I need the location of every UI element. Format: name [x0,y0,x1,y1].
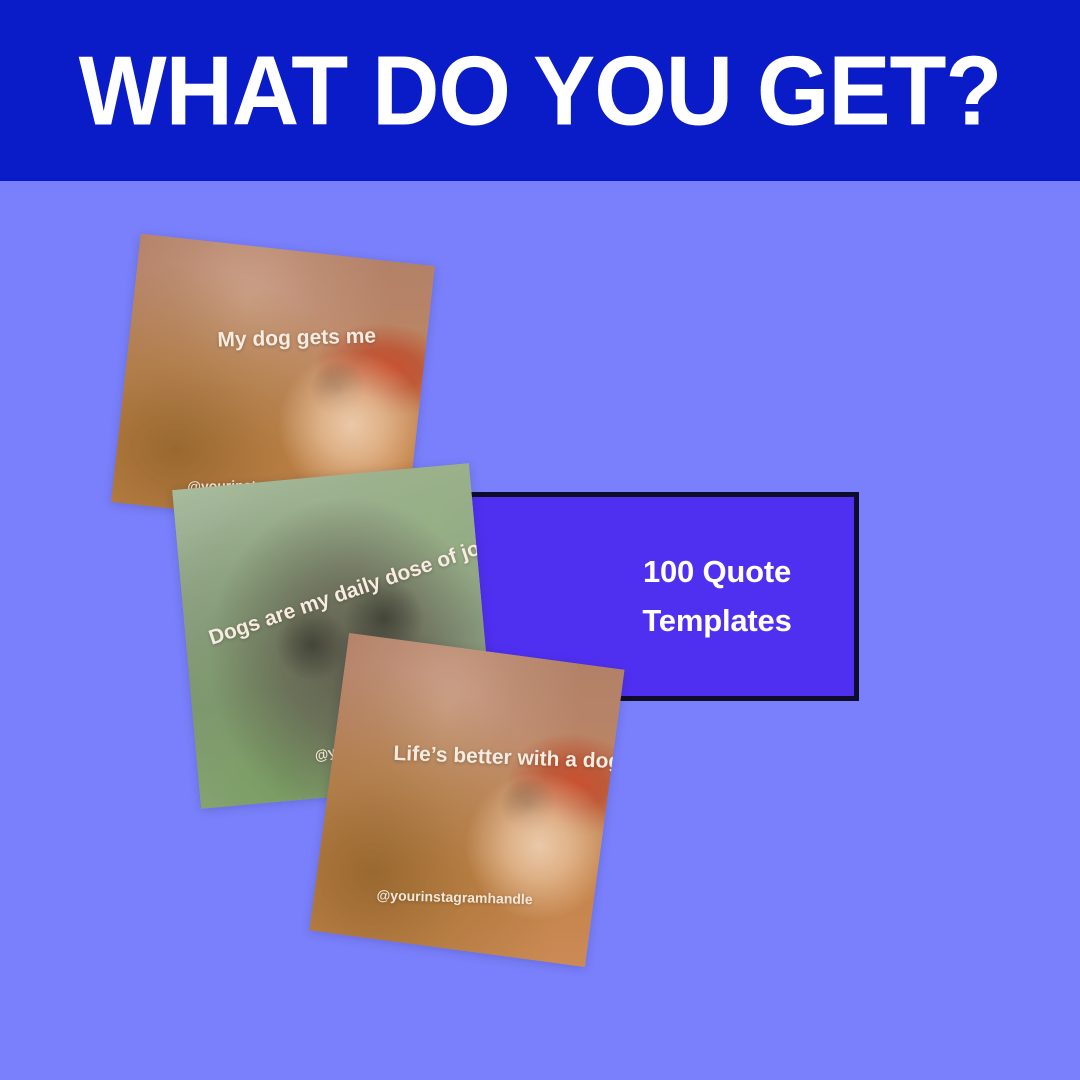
header-banner: WHAT DO YOU GET? [0,0,1080,181]
quote-text: My dog gets me [217,324,376,352]
feature-callout-text: 100 Quote Templates [460,548,854,644]
quote-card-lifes-better-with-a-dog[interactable]: Life’s better with a dog @yourinstagramh… [309,633,624,967]
warm-orange-tint-overlay [309,633,624,967]
page-title: WHAT DO YOU GET? [0,0,1080,192]
feature-line-1: 100 Quote [580,548,854,596]
poster-canvas: My dog gets me @yourinstagramhandle 100 … [0,0,1080,1080]
feature-line-2: Templates [580,597,854,645]
